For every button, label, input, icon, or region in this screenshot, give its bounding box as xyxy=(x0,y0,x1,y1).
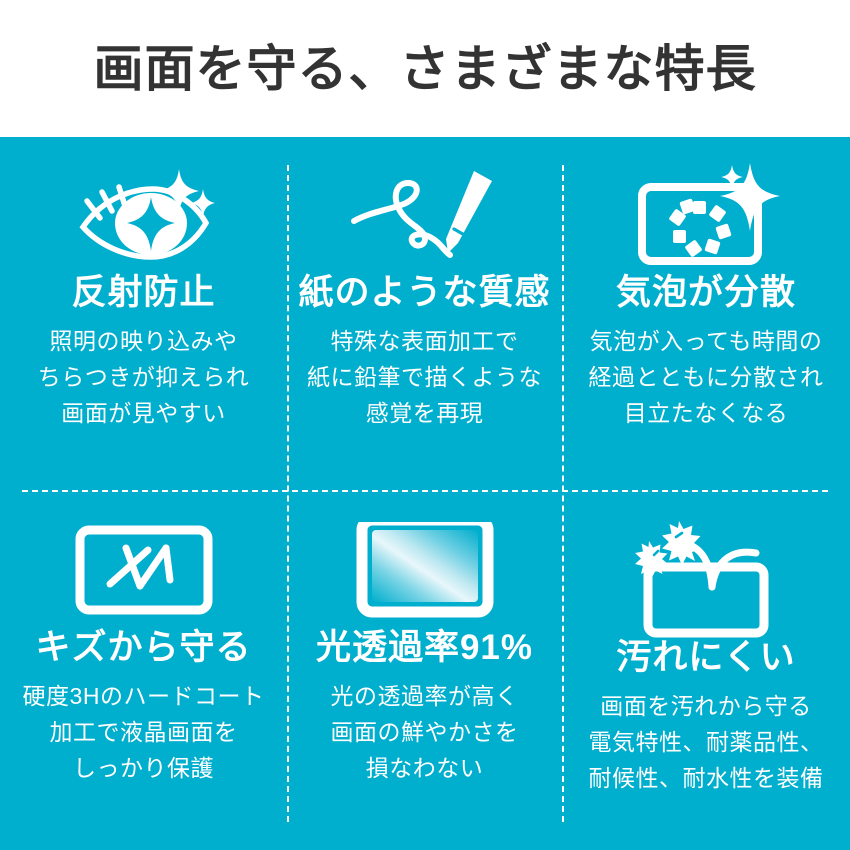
page-title: 画面を守る、さまざまな特長 xyxy=(94,44,757,94)
feature-infographic: 画面を守る、さまざまな特長 xyxy=(0,0,850,850)
desc-line: 電気特性、耐薬品性、 xyxy=(589,724,824,760)
feature-description: 気泡が入っても時間の 経過とともに分散され 目立たなくなる xyxy=(589,323,824,431)
feature-title: キズから守る xyxy=(35,628,251,668)
feature-title: 気泡が分散 xyxy=(616,273,796,313)
feature-cell-paper-texture: 紙のような質感 特殊な表面加工で 紙に鉛筆で描くような 感覚を再現 xyxy=(287,137,562,490)
screen-germ-repel-icon xyxy=(632,515,780,639)
desc-line: 画面の鮮やかさを xyxy=(331,714,519,750)
desc-line: 経過とともに分散され xyxy=(589,359,824,395)
desc-line: 気泡が入っても時間の xyxy=(589,323,824,359)
feature-cell-bubble-dispersion: 気泡が分散 気泡が入っても時間の 経過とともに分散され 目立たなくなる xyxy=(562,137,850,490)
desc-line: 感覚を再現 xyxy=(307,395,542,431)
feature-description: 照明の映り込みや ちらつきが抑えられ 画面が見やすい xyxy=(38,323,250,431)
feature-title: 光透過率91% xyxy=(316,628,533,668)
icon-container xyxy=(73,161,215,269)
desc-line: 特殊な表面加工で xyxy=(307,323,542,359)
screen-scratch-icon xyxy=(74,524,214,616)
feature-cell-anti-reflection: 反射防止 照明の映り込みや ちらつきが抑えられ 画面が見やすい xyxy=(0,137,287,490)
desc-line: 目立たなくなる xyxy=(589,395,824,431)
screen-bubbles-sparkle-icon xyxy=(632,163,780,267)
feature-title: 汚れにくい xyxy=(616,638,795,678)
desc-line: 光の透過率が高く xyxy=(331,678,519,714)
icon-container xyxy=(632,161,780,269)
icon-container xyxy=(356,516,494,624)
feature-description: 特殊な表面加工で 紙に鉛筆で描くような 感覚を再現 xyxy=(307,323,542,431)
desc-line: ちらつきが抑えられ xyxy=(38,359,250,395)
desc-line: 加工で液晶画面を xyxy=(23,714,265,750)
feature-cell-scratch-protection: キズから守る 硬度3Hのハードコート 加工で液晶画面を しっかり保護 xyxy=(0,490,287,850)
desc-line: 画面が見やすい xyxy=(38,395,250,431)
feature-title: 紙のような質感 xyxy=(298,273,550,313)
icon-container xyxy=(350,161,500,269)
features-panel: 反射防止 照明の映り込みや ちらつきが抑えられ 画面が見やすい 紙のような質感 xyxy=(0,137,850,850)
desc-line: 耐候性、耐水性を装備 xyxy=(589,760,824,796)
features-grid: 反射防止 照明の映り込みや ちらつきが抑えられ 画面が見やすい 紙のような質感 xyxy=(0,137,850,850)
feature-description: 硬度3Hのハードコート 加工で液晶画面を しっかり保護 xyxy=(23,678,265,786)
desc-line: しっかり保護 xyxy=(23,750,265,786)
icon-container xyxy=(74,516,214,624)
desc-line: 照明の映り込みや xyxy=(38,323,250,359)
icon-container xyxy=(632,516,780,638)
screen-light-transmission-icon xyxy=(356,522,494,618)
pencil-scribble-icon xyxy=(350,165,500,265)
desc-line: 画面を汚れから守る xyxy=(589,688,824,724)
feature-cell-light-transmission: 光透過率91% 光の透過率が高く 画面の鮮やかさを 損なわない xyxy=(287,490,562,850)
header: 画面を守る、さまざまな特長 xyxy=(0,0,850,137)
feature-description: 光の透過率が高く 画面の鮮やかさを 損なわない xyxy=(331,678,519,786)
feature-description: 画面を汚れから守る 電気特性、耐薬品性、 耐候性、耐水性を装備 xyxy=(589,688,824,796)
eye-sparkle-icon xyxy=(73,165,215,265)
desc-line: 損なわない xyxy=(331,750,519,786)
feature-title: 反射防止 xyxy=(71,273,215,313)
desc-line: 硬度3Hのハードコート xyxy=(23,678,265,714)
feature-cell-stain-resistant: 汚れにくい 画面を汚れから守る 電気特性、耐薬品性、 耐候性、耐水性を装備 xyxy=(562,490,850,850)
desc-line: 紙に鉛筆で描くような xyxy=(307,359,542,395)
